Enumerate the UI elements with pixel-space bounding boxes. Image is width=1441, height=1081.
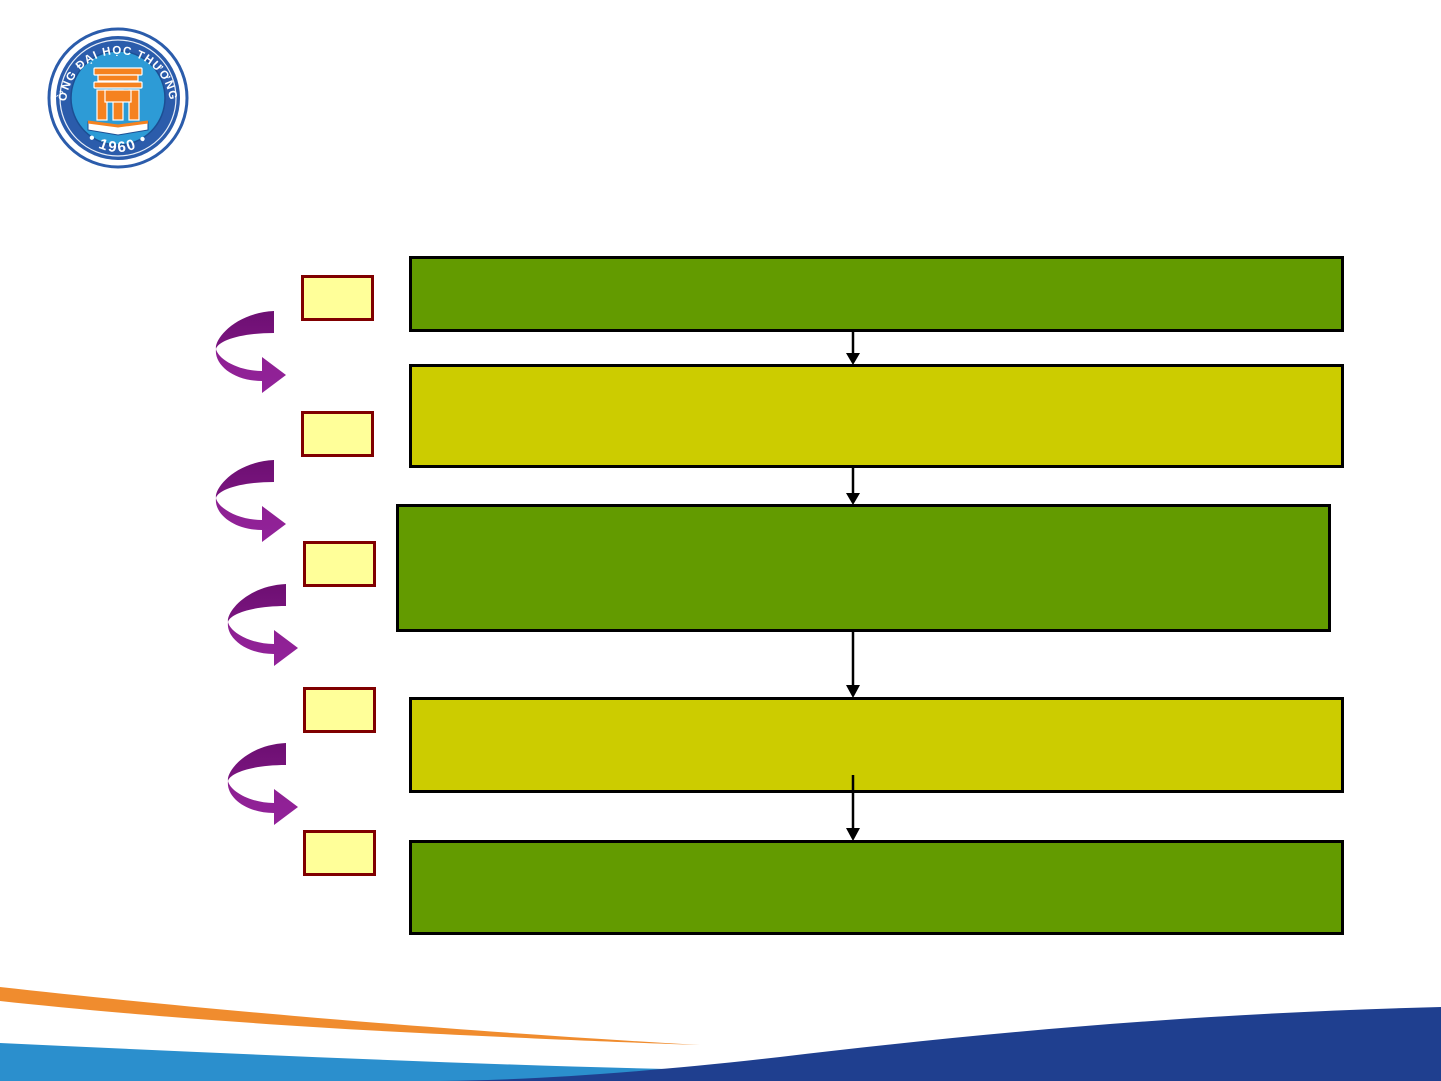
process-box-5[interactable] — [409, 840, 1344, 935]
connector-2-3-icon — [841, 468, 865, 505]
slide-canvas: TRƯỜNG ĐẠI HỌC THƯƠNG MẠI • 1960 • — [0, 0, 1441, 1081]
step-box-2[interactable] — [301, 411, 374, 457]
process-box-2[interactable] — [409, 364, 1344, 468]
process-box-4[interactable] — [409, 697, 1344, 793]
step-box-4[interactable] — [303, 687, 376, 733]
loop-arrow-3-icon — [212, 576, 302, 671]
loop-arrow-1-icon — [200, 303, 290, 398]
footer-banner-decoration — [0, 951, 1441, 1081]
loop-arrow-4-icon — [212, 735, 302, 830]
process-box-1[interactable] — [409, 256, 1344, 332]
process-box-3[interactable] — [396, 504, 1331, 632]
step-box-5[interactable] — [303, 830, 376, 876]
university-logo: TRƯỜNG ĐẠI HỌC THƯƠNG MẠI • 1960 • — [44, 22, 192, 174]
university-emblem-icon: TRƯỜNG ĐẠI HỌC THƯƠNG MẠI • 1960 • — [44, 22, 192, 174]
connector-1-2-icon — [841, 332, 865, 365]
loop-arrow-2-icon — [200, 452, 290, 547]
step-box-3[interactable] — [303, 541, 376, 587]
connector-3-4-icon — [841, 632, 865, 698]
step-box-1[interactable] — [301, 275, 374, 321]
connector-4-5-icon — [841, 775, 865, 841]
banner-orange-swoosh — [0, 987, 700, 1045]
